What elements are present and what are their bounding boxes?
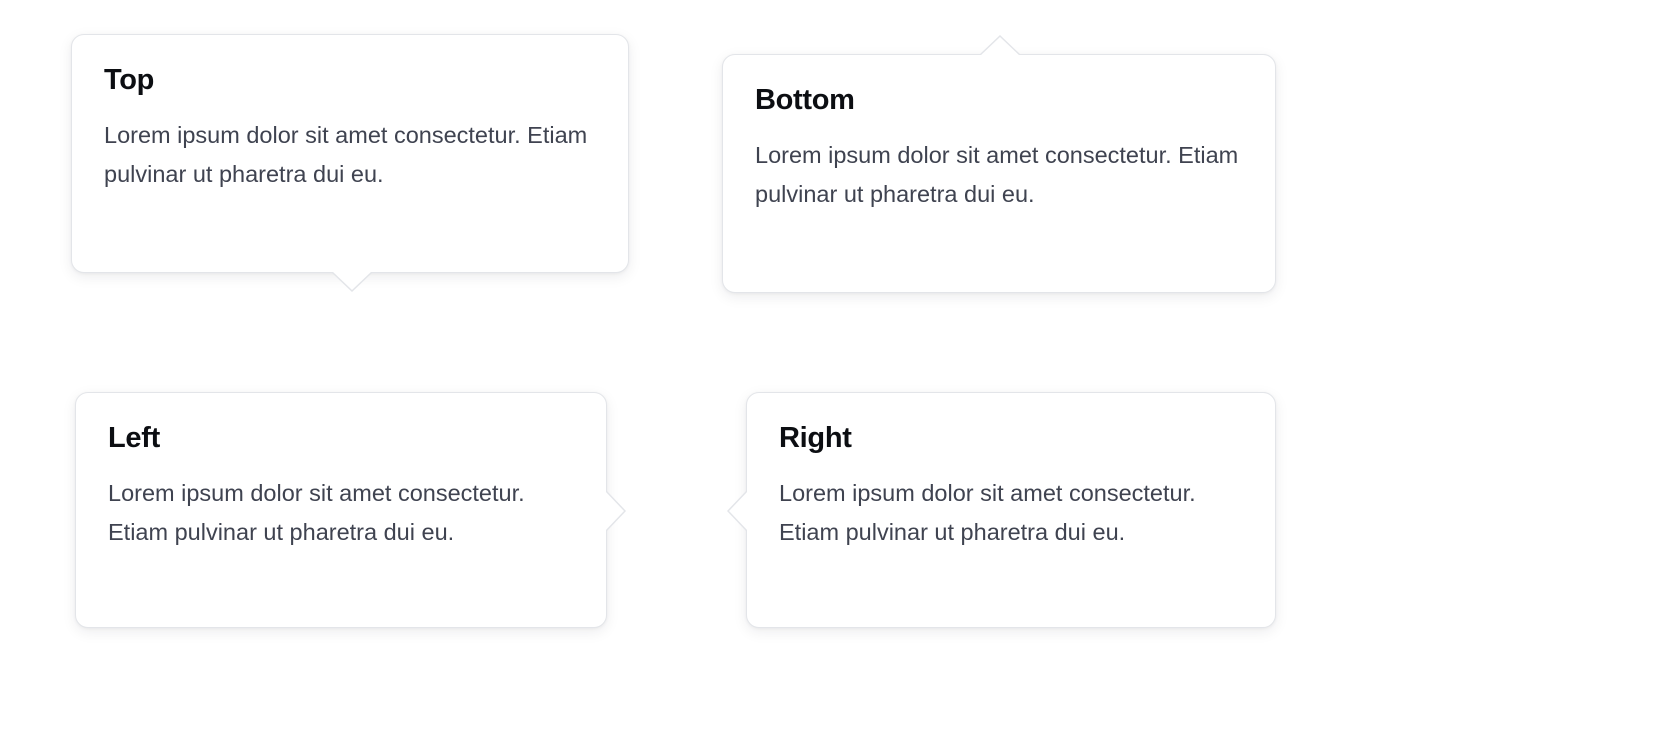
arrow-down-icon-fill — [332, 271, 372, 290]
popover-body-text: Lorem ipsum dolor sit amet consectetur. … — [755, 136, 1244, 212]
popover-bottom[interactable]: Bottom Lorem ipsum dolor sit amet consec… — [722, 54, 1276, 293]
arrow-up-icon — [979, 35, 1021, 55]
popover-title: Top — [104, 65, 597, 95]
popover-title: Bottom — [755, 85, 1244, 115]
popover-body-text: Lorem ipsum dolor sit amet consectetur. … — [779, 474, 1244, 550]
arrow-right-icon — [606, 490, 626, 532]
arrow-up-icon-fill — [980, 37, 1020, 56]
arrow-down-icon — [331, 272, 373, 292]
arrow-left-icon-fill — [729, 491, 748, 531]
popover-showcase-canvas: Top Lorem ipsum dolor sit amet consectet… — [0, 0, 1672, 740]
arrow-left-icon — [727, 490, 747, 532]
popover-right[interactable]: Right Lorem ipsum dolor sit amet consect… — [746, 392, 1276, 628]
popover-title: Right — [779, 423, 1244, 453]
popover-top[interactable]: Top Lorem ipsum dolor sit amet consectet… — [71, 34, 629, 273]
popover-title: Left — [108, 423, 575, 453]
popover-left[interactable]: Left Lorem ipsum dolor sit amet consecte… — [75, 392, 607, 628]
arrow-right-icon-fill — [605, 491, 624, 531]
popover-body-text: Lorem ipsum dolor sit amet consectetur. … — [108, 474, 575, 550]
popover-body-text: Lorem ipsum dolor sit amet consectetur. … — [104, 116, 597, 192]
